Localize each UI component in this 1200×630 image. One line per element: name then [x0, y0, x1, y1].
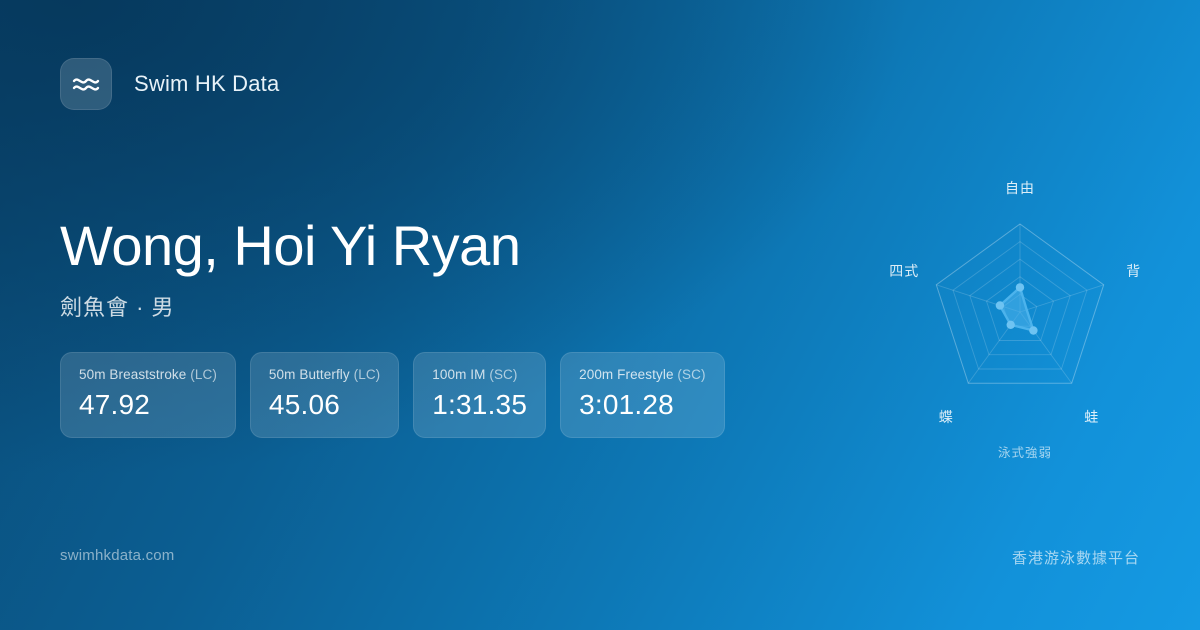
radar-axis-label-im: 四式: [889, 261, 919, 281]
athlete-hero: Wong, Hoi Yi Ryan 劍魚會 · 男: [60, 218, 820, 322]
brand-name: Swim HK Data: [134, 71, 279, 97]
stat-card[interactable]: 50m Breaststroke (LC) 47.92: [60, 352, 236, 438]
stat-value: 47.92: [79, 389, 217, 421]
stat-event: 100m IM: [432, 367, 485, 382]
stat-value: 3:01.28: [579, 389, 705, 421]
stat-label: 50m Butterfly (LC): [269, 367, 380, 382]
footer-tagline: 香港游泳數據平台: [1012, 547, 1140, 568]
stat-course: (LC): [190, 367, 217, 382]
stat-event: 50m Breaststroke: [79, 367, 186, 382]
stat-event: 200m Freestyle: [579, 367, 673, 382]
stat-label: 50m Breaststroke (LC): [79, 367, 217, 382]
radar-axis-label-fly: 蝶: [939, 407, 954, 427]
radar-chart-svg: [880, 160, 1170, 440]
radar-axis-label-breast: 蛙: [1084, 407, 1099, 427]
radar-axis-label-free: 自由: [1005, 178, 1035, 198]
stat-card-list: 50m Breaststroke (LC) 47.92 50m Butterfl…: [60, 352, 725, 438]
brand-header[interactable]: Swim HK Data: [60, 58, 279, 110]
stat-card[interactable]: 100m IM (SC) 1:31.35: [413, 352, 546, 438]
stat-course: (SC): [677, 367, 705, 382]
athlete-meta: 劍魚會 · 男: [60, 290, 820, 322]
stat-event: 50m Butterfly: [269, 367, 350, 382]
stat-card[interactable]: 50m Butterfly (LC) 45.06: [250, 352, 399, 438]
stat-label: 200m Freestyle (SC): [579, 367, 705, 382]
stat-value: 1:31.35: [432, 389, 527, 421]
wave-icon: [60, 58, 112, 110]
radar-axis-label-back: 背: [1126, 261, 1141, 281]
stat-value: 45.06: [269, 389, 380, 421]
footer-site-url[interactable]: swimhkdata.com: [60, 547, 175, 564]
stat-label: 100m IM (SC): [432, 367, 527, 382]
radar-chart: 自由 背 蛙 蝶 四式 泳式強弱: [880, 160, 1170, 470]
stat-course: (SC): [489, 367, 517, 382]
page-title: Wong, Hoi Yi Ryan: [60, 218, 820, 274]
stat-card[interactable]: 200m Freestyle (SC) 3:01.28: [560, 352, 724, 438]
radar-caption: 泳式強弱: [880, 442, 1170, 461]
stat-course: (LC): [354, 367, 381, 382]
